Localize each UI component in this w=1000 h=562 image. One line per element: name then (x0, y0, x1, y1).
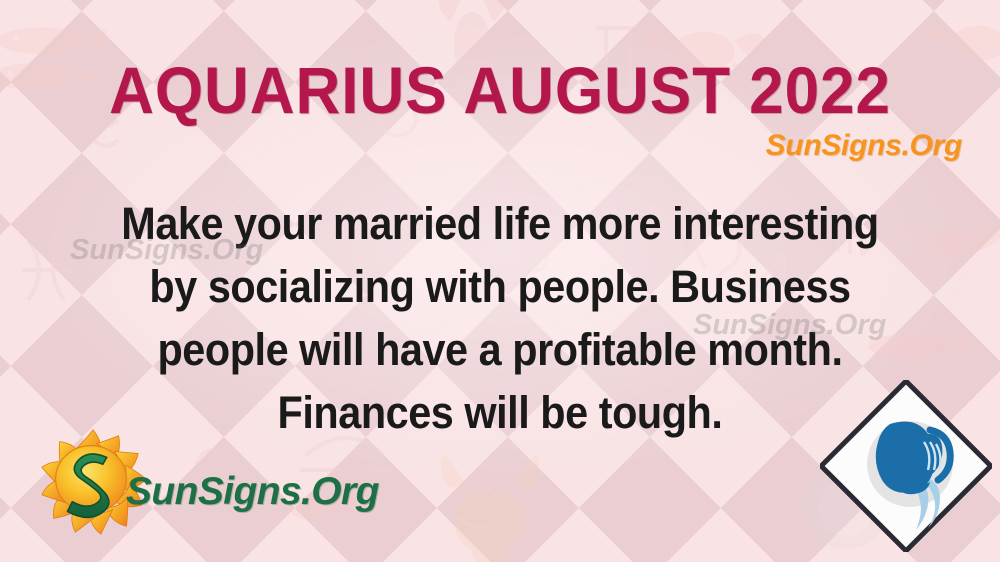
aquarius-water-bearer-icon (820, 380, 992, 552)
horoscope-body-text: Make your married life more interesting … (68, 192, 933, 444)
page-title: AQUARIUS AUGUST 2022 (30, 57, 970, 123)
sunsigns-logo[interactable]: SunSigns.Org (34, 420, 364, 545)
sunsigns-wordmark: SunSigns.Org (126, 472, 379, 511)
body-line-3: people will have a profitable month. (68, 318, 933, 381)
body-line-1: Make your married life more interesting (68, 192, 933, 255)
body-line-2: by socializing with people. Business (68, 255, 933, 318)
horoscope-poster: AQUARIUS AUGUST 2022 SunSigns.Org Make y… (0, 0, 1000, 562)
brand-tag-orange: SunSigns.Org (766, 131, 962, 161)
